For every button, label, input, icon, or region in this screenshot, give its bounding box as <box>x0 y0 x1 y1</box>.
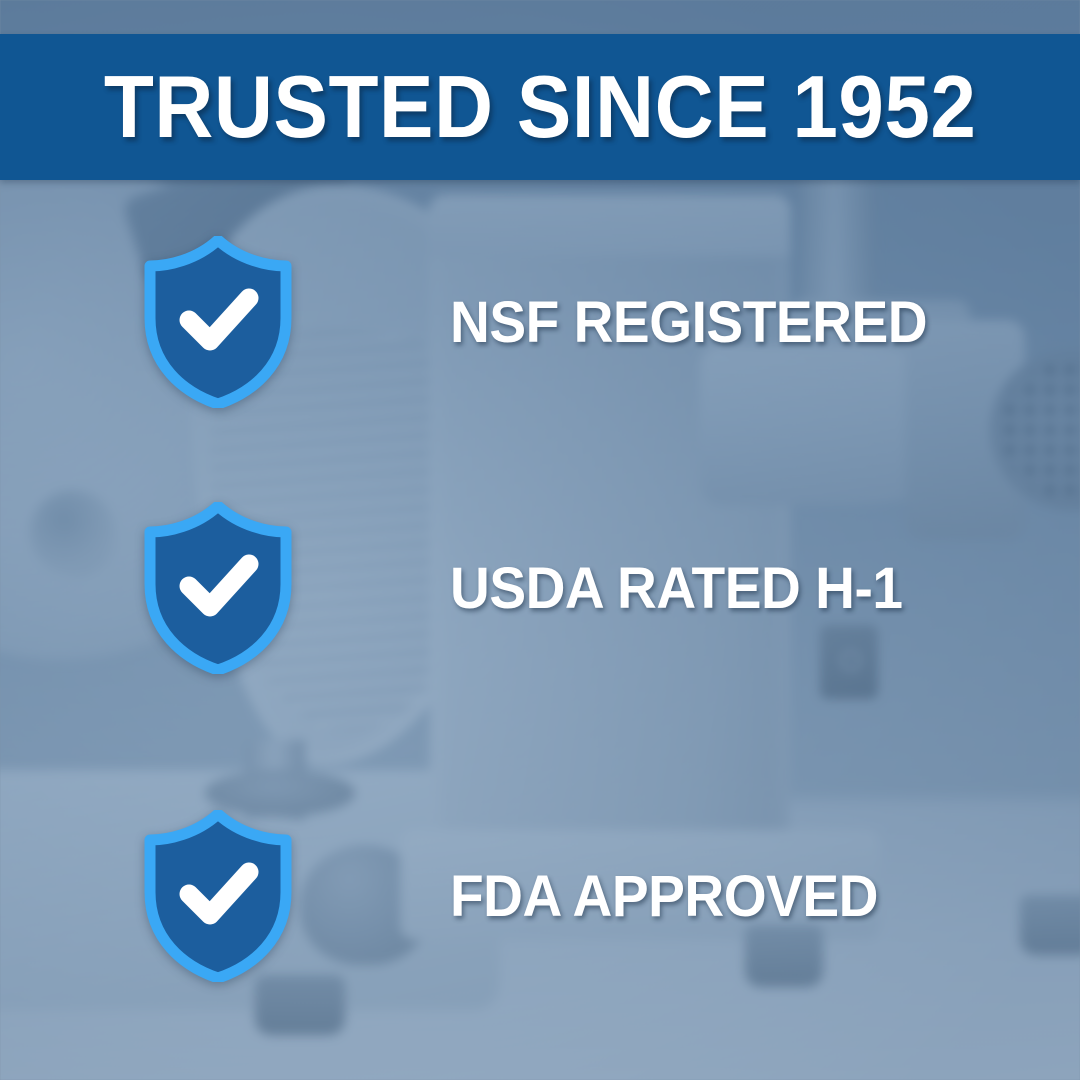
badge-row-nsf: NSF REGISTERED <box>0 236 1080 408</box>
banner-title: TRUSTED SINCE 1952 <box>104 63 976 151</box>
badge-label-nsf: NSF REGISTERED <box>450 289 927 356</box>
promo-graphic: TRUSTED SINCE 1952 NSF REGISTERED USDA R… <box>0 0 1080 1080</box>
trusted-since-banner: TRUSTED SINCE 1952 <box>0 34 1080 180</box>
badge-row-fda: FDA APPROVED <box>0 810 1080 982</box>
shield-check-icon <box>144 810 292 982</box>
shield-check-icon <box>144 236 292 408</box>
shield-check-icon <box>144 502 292 674</box>
badge-list: NSF REGISTERED USDA RATED H-1 FDA APPROV… <box>0 180 1080 1080</box>
badge-label-usda: USDA RATED H-1 <box>450 555 903 622</box>
badge-row-usda: USDA RATED H-1 <box>0 502 1080 674</box>
badge-label-fda: FDA APPROVED <box>450 863 878 930</box>
